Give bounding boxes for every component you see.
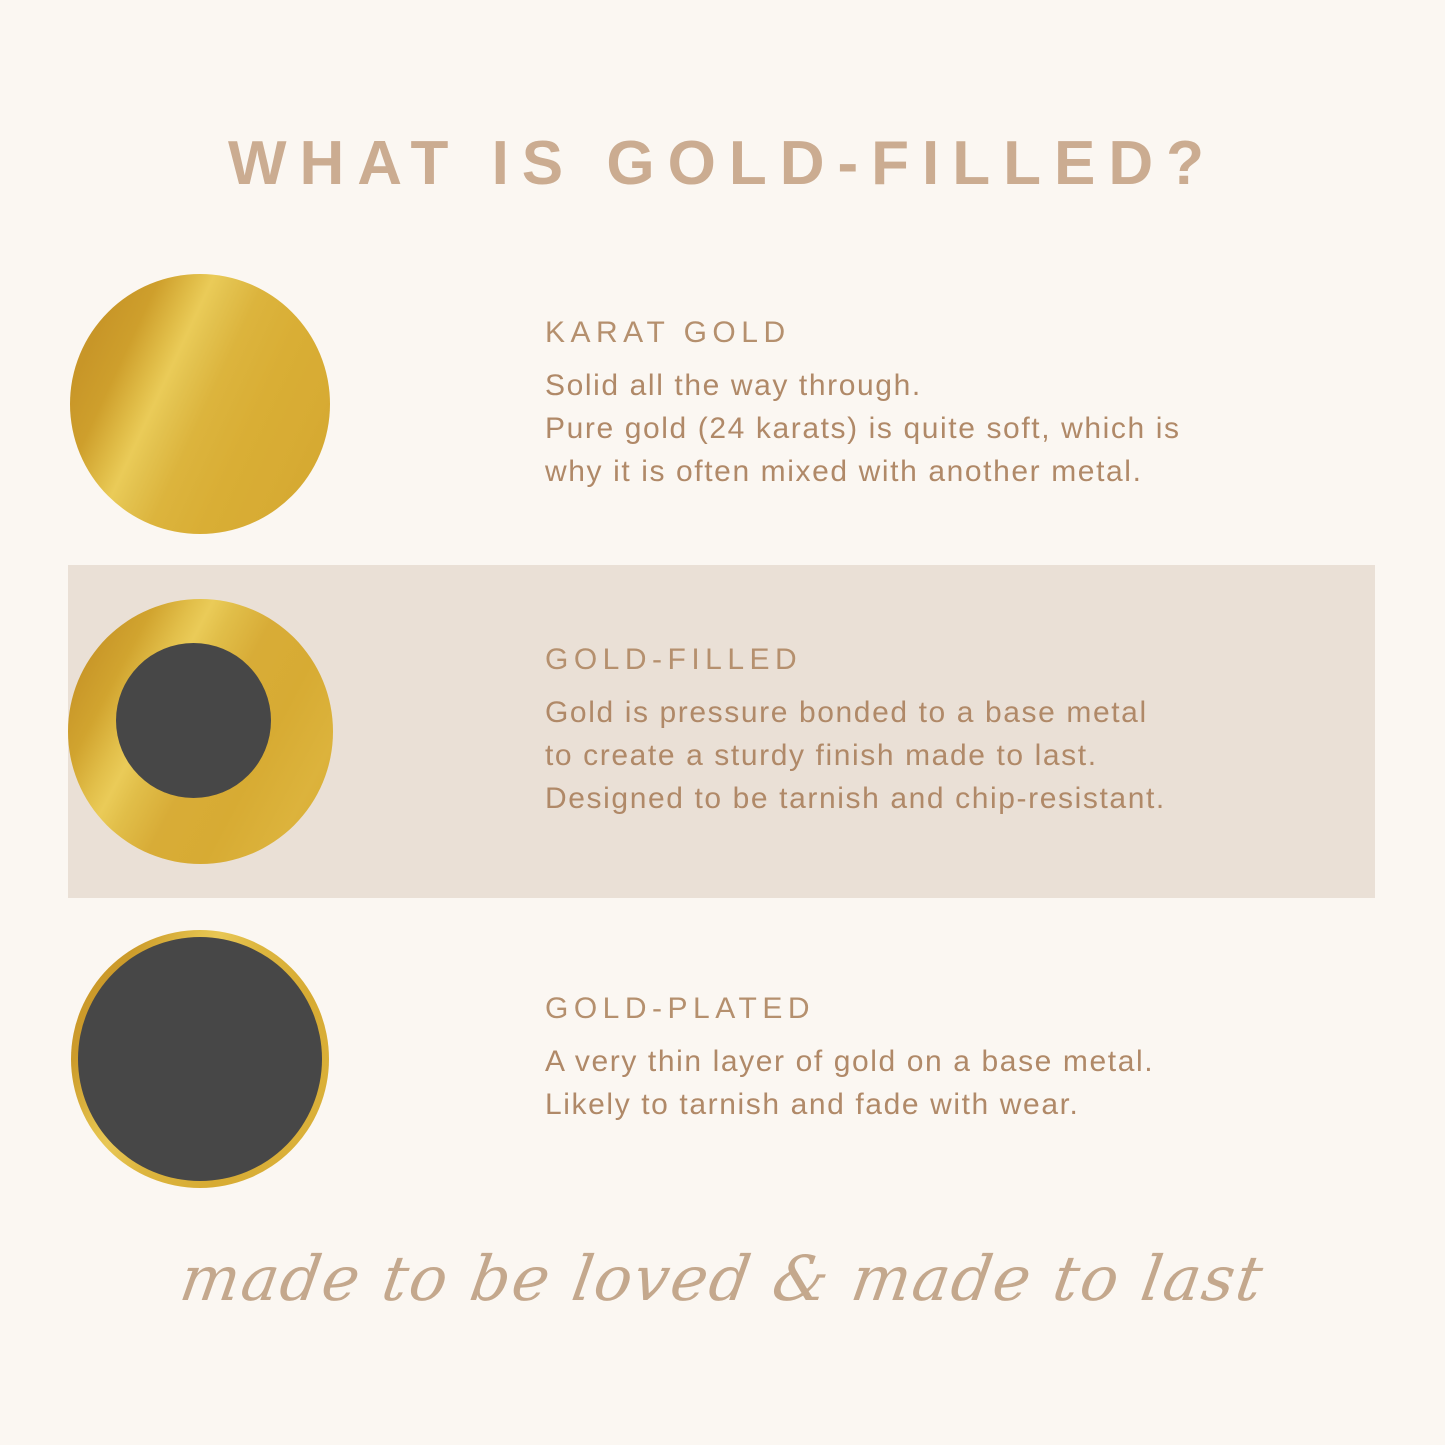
section-body-karat-gold: Solid all the way through. Pure gold (24… [545,364,1385,493]
body-line: A very thin layer of gold on a base meta… [545,1040,1385,1083]
solid-gold-circle-icon [70,274,330,534]
section-gold-filled: GOLD-FILLED Gold is pressure bonded to a… [0,592,1445,870]
section-body-gold-plated: A very thin layer of gold on a base meta… [545,1040,1385,1126]
body-line: why it is often mixed with another metal… [545,450,1385,493]
gold-filled-text: GOLD-FILLED Gold is pressure bonded to a… [400,643,1445,820]
gold-plated-text: GOLD-PLATED A very thin layer of gold on… [400,992,1445,1126]
section-gold-plated: GOLD-PLATED A very thin layer of gold on… [0,932,1445,1186]
body-line: to create a sturdy finish made to last. [545,734,1385,777]
gold-filled-figure-cell [0,592,400,870]
gold-plated-figure-cell [0,932,400,1186]
base-metal-core [78,937,322,1181]
base-metal-core [116,643,271,798]
section-heading-karat-gold: KARAT GOLD [545,316,1385,350]
section-heading-gold-filled: GOLD-FILLED [545,643,1385,677]
section-heading-gold-plated: GOLD-PLATED [545,992,1385,1026]
page-title: WHAT IS GOLD-FILLED? [0,128,1445,199]
gold-ring-circle-icon [68,599,333,864]
gold-types-infographic: WHAT IS GOLD-FILLED? KARAT GOLD Solid al… [0,0,1445,1445]
section-body-gold-filled: Gold is pressure bonded to a base metal … [545,691,1385,820]
karat-gold-figure-cell [0,274,400,534]
body-line: Likely to tarnish and fade with wear. [545,1083,1385,1126]
section-karat-gold: KARAT GOLD Solid all the way through. Pu… [0,274,1445,534]
karat-gold-text: KARAT GOLD Solid all the way through. Pu… [400,316,1445,493]
body-line: Gold is pressure bonded to a base metal [545,691,1385,734]
body-line: Solid all the way through. [545,364,1385,407]
gold-rimmed-circle-icon [71,930,329,1188]
tagline: made to be loved & made to last [0,1242,1445,1315]
body-line: Pure gold (24 karats) is quite soft, whi… [545,407,1385,450]
body-line: Designed to be tarnish and chip-resistan… [545,777,1385,820]
